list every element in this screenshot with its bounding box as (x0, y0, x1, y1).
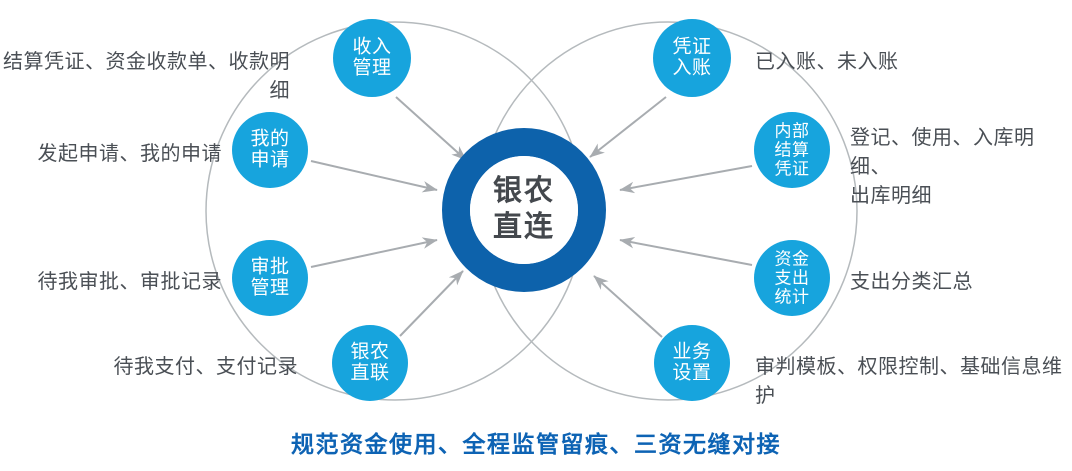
description-fund-expenditure-statistics: 支出分类汇总 (850, 268, 1068, 297)
node-circle-approval-management[interactable] (232, 240, 308, 316)
node-circle-business-settings[interactable] (654, 325, 730, 401)
arrow-bank-agriculture-direct (400, 271, 463, 336)
description-bank-agriculture-direct: 待我支付、支付记录 (0, 353, 298, 382)
hub-inner-disc (470, 156, 578, 264)
diagram-canvas: 收入 管理我的 申请审批 管理银农 直联凭证 入账内部 结算 凭证资金 支出 统… (0, 0, 1072, 471)
node-circle-my-application[interactable] (232, 112, 308, 188)
arrow-voucher-accounting (590, 97, 666, 157)
arrow-business-settings (594, 276, 662, 337)
description-income-management: 结算凭证、资金收款单、收款明细 (0, 48, 290, 106)
arrow-internal-settlement (620, 166, 752, 190)
hub-ring (456, 142, 592, 278)
description-business-settings: 审判模板、权限控制、基础信息维护 (755, 353, 1068, 411)
arrow-fund-expenditure (620, 240, 752, 265)
description-internal-settlement-voucher: 登记、使用、入库明细、 出库明细 (850, 124, 1068, 211)
node-circle-internal-settlement-voucher[interactable] (754, 112, 830, 188)
node-circle-voucher-accounting[interactable] (653, 19, 731, 97)
footer-caption: 规范资金使用、全程监管留痕、三资无缝对接 (0, 425, 1072, 459)
arrow-income-management (396, 97, 466, 160)
node-circle-fund-expenditure-statistics[interactable] (754, 240, 830, 316)
description-my-application: 发起申请、我的申请 (0, 140, 222, 169)
node-circle-bank-agriculture-direct[interactable] (332, 325, 408, 401)
description-approval-management: 待我审批、审批记录 (0, 268, 222, 297)
description-voucher-accounting: 已入账、未入账 (755, 48, 1068, 77)
node-circle-income-management[interactable] (333, 19, 411, 97)
arrow-my-application (311, 161, 437, 190)
arrow-approval-management (311, 240, 437, 267)
